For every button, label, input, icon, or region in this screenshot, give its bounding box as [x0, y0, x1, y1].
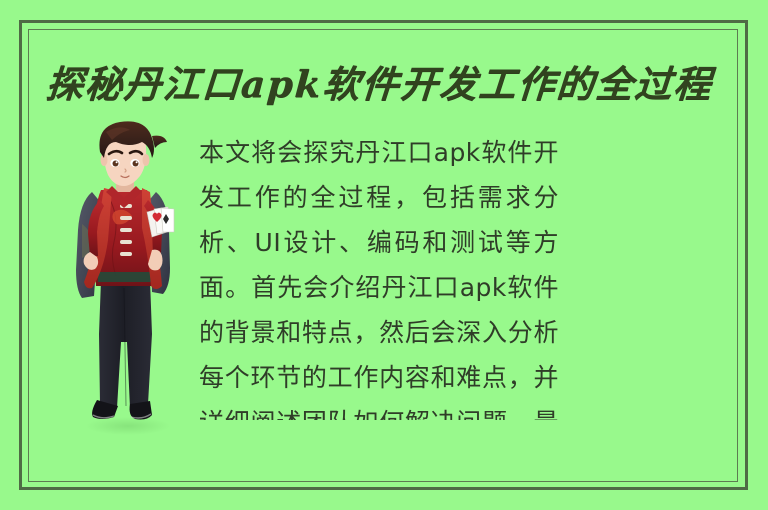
anime-boy-with-playing-cards-icon: [68, 120, 183, 438]
playing-cards: [147, 207, 174, 237]
left-iris: [113, 161, 119, 167]
article-body-text: 本文将会探究丹江口apk软件开发工作的全过程，包括需求分析、UI设计、编码和测试…: [199, 130, 559, 420]
ground-shadow: [86, 417, 170, 435]
right-eye-glint: [136, 161, 138, 163]
right-shoe: [130, 401, 152, 420]
hair-side-strand: [152, 136, 167, 148]
character-illustration: [68, 120, 183, 438]
left-eye-glint: [116, 161, 118, 163]
right-ear: [143, 154, 150, 166]
waist-band: [98, 272, 152, 282]
page-title: 探秘丹江口apk软件开发工作的全过程: [44, 58, 728, 110]
poster-root: 探秘丹江口apk软件开发工作的全过程 本文将会探究丹江口apk软件开发工作的全过…: [0, 0, 768, 510]
right-iris: [133, 161, 139, 167]
